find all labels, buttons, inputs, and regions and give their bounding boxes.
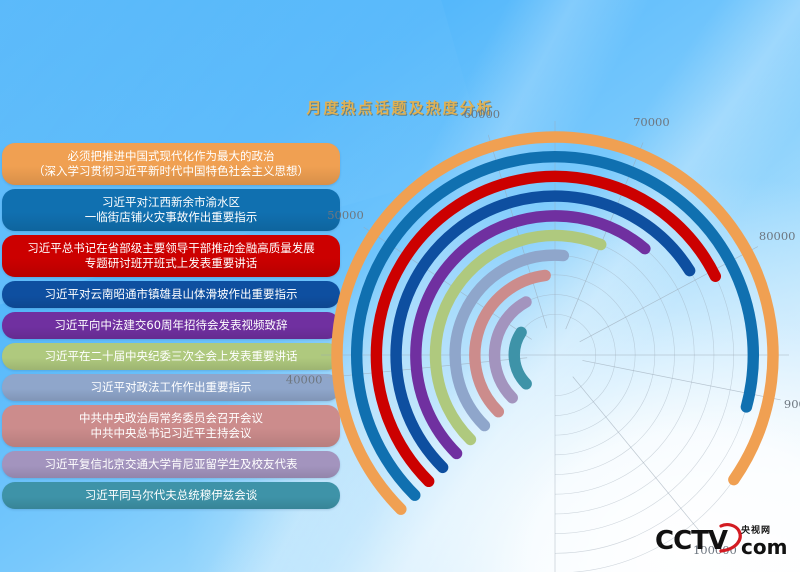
legend-item-label: 习近平对云南昭通市镇雄县山体滑坡作出重要指示 [45, 287, 298, 302]
legend-item-4[interactable]: 习近平对云南昭通市镇雄县山体滑坡作出重要指示 [2, 281, 340, 308]
legend-item-9[interactable]: 习近平复信北京交通大学肯尼亚留学生及校友代表 [2, 451, 340, 478]
legend-item-label: 习近平同马尔代夫总统穆伊兹会谈 [85, 488, 258, 503]
infographic-canvas: 中南海月刊 月度热点话题及热度分析 必须把推进中国式现代化作为最大的政治 （深入… [0, 0, 800, 572]
legend-item-label: 习近平向中法建交60周年招待会发表视频致辞 [54, 318, 287, 333]
legend-item-5[interactable]: 习近平向中法建交60周年招待会发表视频致辞 [2, 312, 340, 339]
chart-svg: 400005000060000700008000090000100000 [330, 120, 800, 560]
legend-item-10[interactable]: 习近平同马尔代夫总统穆伊兹会谈 [2, 482, 340, 509]
tick-label-60000: 60000 [464, 107, 501, 121]
legend-item-2[interactable]: 习近平对江西新余市渝水区 一临街店铺火灾事故作出重要指示 [2, 189, 340, 231]
header: 中南海月刊 月度热点话题及热度分析 [0, 42, 800, 118]
legend-item-3[interactable]: 习近平总书记在省部级主要领导干部推动金融高质量发展 专题研讨班开班式上发表重要讲… [2, 235, 340, 277]
legend-item-label: 习近平对江西新余市渝水区 一临街店铺火灾事故作出重要指示 [85, 195, 258, 225]
cctv-com-label: com [741, 535, 787, 559]
legend-item-label: 中共中央政治局常务委员会召开会议 中共中央总书记习近平主持会议 [79, 411, 263, 441]
arc-series-3[interactable] [376, 176, 715, 481]
tick-label-70000: 70000 [633, 115, 670, 129]
tick-label-50000: 50000 [327, 208, 364, 222]
cctv-logo: CCTV 央视网 com [655, 523, 787, 559]
radial-bar-chart: 400005000060000700008000090000100000 [330, 120, 800, 560]
page-title: 中南海月刊 [0, 42, 800, 85]
page-subtitle: 月度热点话题及热度分析 [0, 97, 800, 118]
legend-item-8[interactable]: 中共中央政治局常务委员会召开会议 中共中央总书记习近平主持会议 [2, 405, 340, 447]
legend-item-6[interactable]: 习近平在二十届中央纪委三次全会上发表重要讲话 [2, 343, 340, 370]
legend-item-1[interactable]: 必须把推进中国式现代化作为最大的政治 （深入学习贯彻习近平新时代中国特色社会主义… [2, 143, 340, 185]
tick-label-40000: 40000 [286, 373, 323, 387]
legend-item-label: 习近平对政法工作作出重要指示 [91, 380, 252, 395]
tick-label-80000: 80000 [759, 229, 796, 243]
legend-item-label: 习近平总书记在省部级主要领导干部推动金融高质量发展 专题研讨班开班式上发表重要讲… [27, 241, 315, 271]
legend-item-label: 必须把推进中国式现代化作为最大的政治 （深入学习贯彻习近平新时代中国特色社会主义… [33, 149, 309, 179]
legend-item-label: 习近平复信北京交通大学肯尼亚留学生及校友代表 [45, 457, 298, 472]
legend-item-label: 习近平在二十届中央纪委三次全会上发表重要讲话 [45, 349, 298, 364]
tick-label-90000: 90000 [784, 397, 800, 411]
legend: 必须把推进中国式现代化作为最大的政治 （深入学习贯彻习近平新时代中国特色社会主义… [2, 143, 340, 513]
